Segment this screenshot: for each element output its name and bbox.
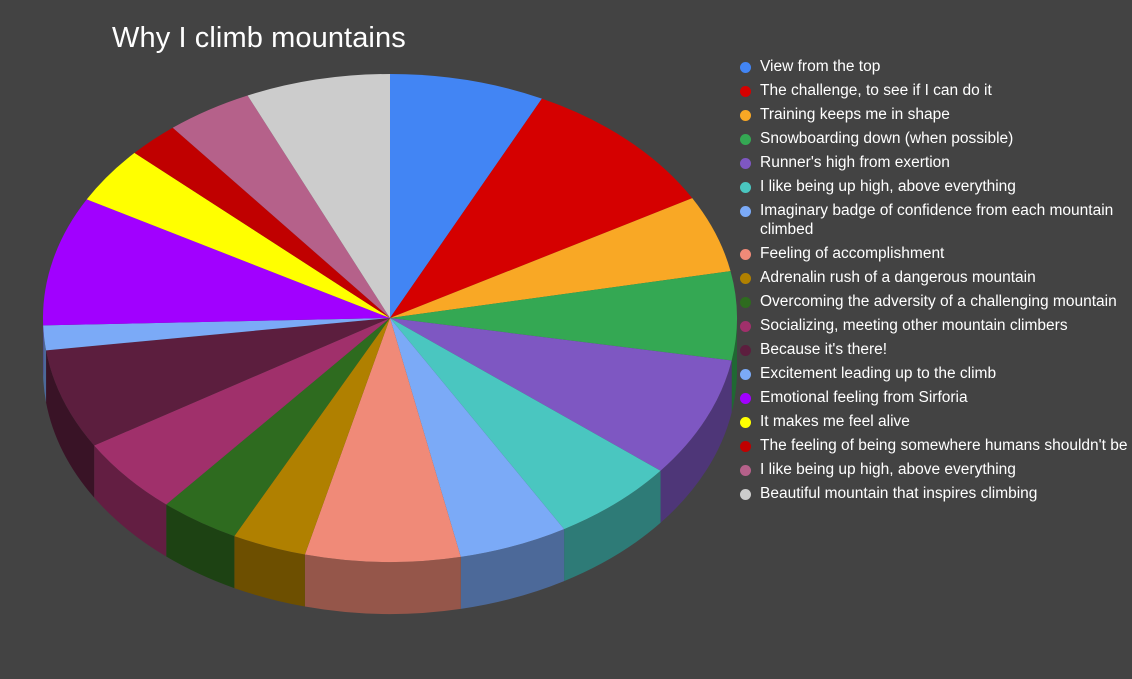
legend-item[interactable]: The challenge, to see if I can do it xyxy=(740,81,1128,100)
legend-swatch-icon xyxy=(740,297,751,308)
legend-swatch-icon xyxy=(740,345,751,356)
legend-swatch-icon xyxy=(740,62,751,73)
legend-swatch-icon xyxy=(740,249,751,260)
legend-item[interactable]: Imaginary badge of confidence from each … xyxy=(740,201,1128,239)
legend-swatch-icon xyxy=(740,417,751,428)
legend-item[interactable]: Socializing, meeting other mountain clim… xyxy=(740,316,1128,335)
legend-item[interactable]: Because it's there! xyxy=(740,340,1128,359)
legend-item-label: Runner's high from exertion xyxy=(760,153,950,172)
legend-swatch-icon xyxy=(740,158,751,169)
legend-item-label: Snowboarding down (when possible) xyxy=(760,129,1013,148)
legend-item-label: Because it's there! xyxy=(760,340,887,359)
legend-swatch-icon xyxy=(740,489,751,500)
legend-item-label: Feeling of accomplishment xyxy=(760,244,944,263)
legend-swatch-icon xyxy=(740,369,751,380)
legend-item-label: Socializing, meeting other mountain clim… xyxy=(760,316,1068,335)
legend-item-label: Imaginary badge of confidence from each … xyxy=(760,201,1128,239)
legend-item-label: Beautiful mountain that inspires climbin… xyxy=(760,484,1037,503)
legend-swatch-icon xyxy=(740,441,751,452)
legend-item[interactable]: Adrenalin rush of a dangerous mountain xyxy=(740,268,1128,287)
legend-item-label: Emotional feeling from Sirforia xyxy=(760,388,968,407)
legend-item-label: View from the top xyxy=(760,57,880,76)
legend-swatch-icon xyxy=(740,182,751,193)
legend-item[interactable]: Emotional feeling from Sirforia xyxy=(740,388,1128,407)
legend-item[interactable]: Snowboarding down (when possible) xyxy=(740,129,1128,148)
legend-swatch-icon xyxy=(740,110,751,121)
legend-item-label: The challenge, to see if I can do it xyxy=(760,81,992,100)
legend-item-label: It makes me feel alive xyxy=(760,412,910,431)
legend-item-label: The feeling of being somewhere humans sh… xyxy=(760,436,1127,455)
legend-swatch-icon xyxy=(740,134,751,145)
legend-item[interactable]: It makes me feel alive xyxy=(740,412,1128,431)
pie-slice-side xyxy=(305,555,461,614)
legend-item[interactable]: View from the top xyxy=(740,57,1128,76)
legend-item[interactable]: Runner's high from exertion xyxy=(740,153,1128,172)
legend-item-label: I like being up high, above everything xyxy=(760,460,1016,479)
legend-item[interactable]: Excitement leading up to the climb xyxy=(740,364,1128,383)
legend-item[interactable]: Beautiful mountain that inspires climbin… xyxy=(740,484,1128,503)
legend-swatch-icon xyxy=(740,206,751,217)
legend-item[interactable]: Feeling of accomplishment xyxy=(740,244,1128,263)
legend-item-label: Adrenalin rush of a dangerous mountain xyxy=(760,268,1036,287)
legend-swatch-icon xyxy=(740,273,751,284)
legend-item[interactable]: I like being up high, above everything xyxy=(740,177,1128,196)
legend-item-label: Overcoming the adversity of a challengin… xyxy=(760,292,1117,311)
legend-item-label: Excitement leading up to the climb xyxy=(760,364,996,383)
legend-item[interactable]: The feeling of being somewhere humans sh… xyxy=(740,436,1128,455)
legend-item[interactable]: Training keeps me in shape xyxy=(740,105,1128,124)
legend-item-label: I like being up high, above everything xyxy=(760,177,1016,196)
legend-swatch-icon xyxy=(740,321,751,332)
chart-legend[interactable]: View from the topThe challenge, to see i… xyxy=(740,57,1128,508)
legend-swatch-icon xyxy=(740,86,751,97)
pie-top-slices[interactable] xyxy=(43,74,737,562)
legend-swatch-icon xyxy=(740,465,751,476)
pie-chart-container: Why I climb mountains View from the topT… xyxy=(0,0,1132,679)
legend-item[interactable]: Overcoming the adversity of a challengin… xyxy=(740,292,1128,311)
legend-item-label: Training keeps me in shape xyxy=(760,105,950,124)
legend-swatch-icon xyxy=(740,393,751,404)
legend-item[interactable]: I like being up high, above everything xyxy=(740,460,1128,479)
